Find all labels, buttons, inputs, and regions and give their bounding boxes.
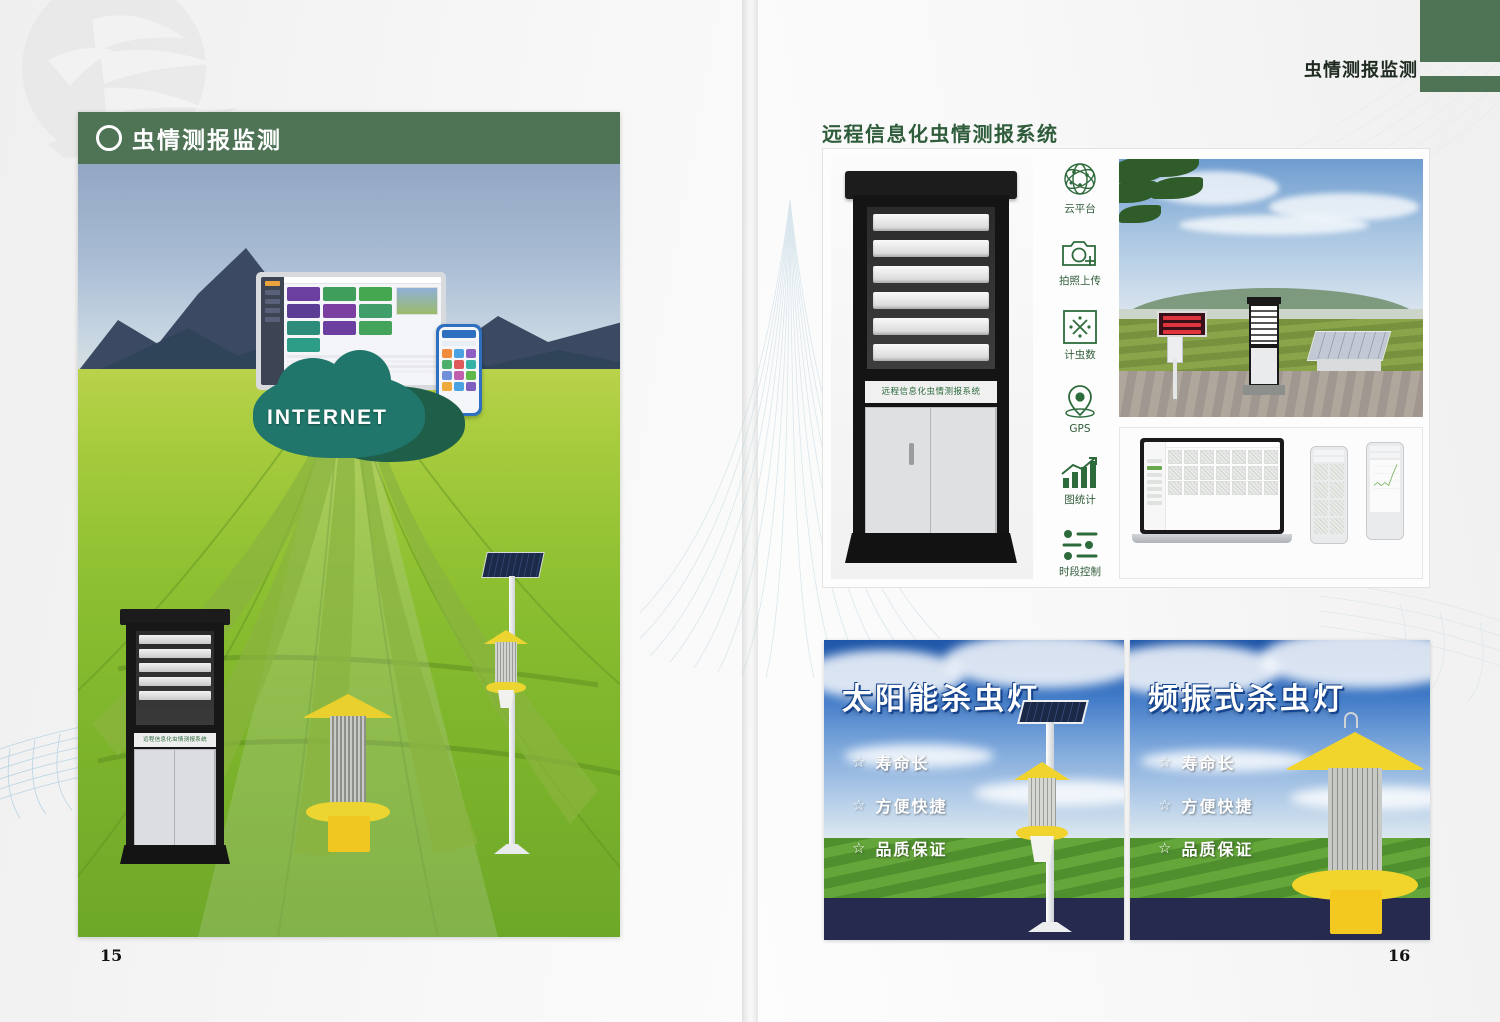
bullet-label: 寿命长 [875, 750, 929, 774]
cabinet-body: 远程信息化虫情测报系统 [853, 195, 1009, 535]
header-accent-bar [1420, 76, 1500, 92]
phone-gallery-view [1310, 446, 1348, 544]
cloud-bump [329, 350, 391, 412]
gallery-content [1166, 442, 1280, 530]
banner-solar-lamp: 太阳能杀虫灯 ☆ 寿命长 ☆ 方便快捷 ☆ 品质保证 [824, 640, 1124, 940]
page-gutter [742, 0, 758, 1022]
internet-cloud: INTERNET [253, 372, 468, 467]
phone-app-title [1314, 457, 1344, 462]
dashboard-toolbar [284, 277, 441, 284]
insect-monitoring-cabinet: 远程信息化虫情测报系统 [120, 609, 230, 864]
laptop [1132, 438, 1292, 556]
cabinet-louvers [136, 631, 214, 725]
cabinet-doors [134, 749, 216, 847]
feature-list: 云平台 拍照上传 计虫数 [1045, 159, 1115, 579]
sidebar-item [265, 299, 280, 304]
lamp-collector-cup [498, 690, 514, 708]
lamp-pole [509, 576, 515, 848]
banner-frequency-lamp: 频振式杀虫灯 ☆ 寿命长 ☆ 方便快捷 ☆ 品质保证 [1130, 640, 1430, 940]
feature-time-control: 时段控制 [1059, 528, 1101, 579]
bar-chart-icon [1060, 456, 1100, 490]
banner-bullet-list: ☆ 寿命长 ☆ 方便快捷 ☆ 品质保证 [852, 750, 947, 860]
banner-bullet: ☆ 方便快捷 [852, 793, 947, 817]
solar-panel-array [1311, 331, 1387, 379]
star-icon: ☆ [852, 839, 867, 857]
software-dashboard-photo [1119, 427, 1423, 579]
phone-chart-view [1366, 442, 1404, 540]
product-overview-card: 远程信息化虫情测报系统 [822, 148, 1430, 588]
star-icon: ☆ [852, 753, 867, 771]
dashboard-tiles [287, 287, 392, 352]
feature-label: 计虫数 [1064, 347, 1096, 362]
cabinet-doors [865, 407, 997, 553]
lamp-foot [1028, 922, 1072, 932]
cloud-platform-icon [1060, 159, 1100, 199]
solar-insect-killing-lamp [1002, 700, 1092, 930]
cabinet-louvers [867, 207, 995, 369]
sidebar-item [265, 281, 280, 286]
cabinet-label: 远程信息化虫情测报系统 [865, 381, 997, 403]
camera-upload-icon [1060, 237, 1100, 271]
insect-photo-gallery [1144, 442, 1280, 530]
time-control-icon [1060, 528, 1100, 562]
solar-panel [481, 552, 545, 578]
cabinet-plinth [1243, 385, 1285, 395]
cloud-label: INTERNET [267, 406, 388, 430]
banner-title: 频振式杀虫灯 [1148, 674, 1346, 718]
feature-gps: GPS [1062, 383, 1098, 435]
gallery-toolbar [1166, 442, 1280, 448]
banner-bullet: ☆ 品质保证 [852, 836, 947, 860]
banner-bullet-list: ☆ 寿命长 ☆ 方便快捷 ☆ 品质保证 [1158, 750, 1253, 860]
cabinet-label: 远程信息化虫情测报系统 [134, 733, 216, 747]
frequency-vibration-insect-lamp [302, 676, 394, 861]
star-icon: ☆ [852, 796, 867, 814]
phone-statusbar [1314, 450, 1344, 455]
banner-bullet: ☆ 寿命长 [852, 750, 947, 774]
lamp-tubes [495, 642, 517, 686]
lamp-tubes [1328, 768, 1382, 878]
star-icon: ☆ [1158, 753, 1173, 771]
photo-tree [1119, 159, 1227, 263]
feature-label: 云平台 [1064, 201, 1096, 216]
panel-title-bar: 虫情测报监测 [78, 112, 620, 164]
monitoring-cabinet-installed [1247, 297, 1281, 391]
feature-insect-count: 计虫数 [1062, 309, 1098, 362]
panel-title: 虫情测报监测 [132, 121, 282, 155]
dashboard-sidebar [261, 277, 284, 385]
bullet-label: 品质保证 [1181, 836, 1253, 860]
cabinet-handle [909, 443, 914, 465]
feature-label: 拍照上传 [1059, 273, 1101, 288]
lamp-tubes [1028, 778, 1056, 832]
bullet-label: 方便快捷 [1181, 793, 1253, 817]
cabinet-base [120, 845, 230, 864]
page-spread: 虫情测报监测 虫情测报监测 [0, 0, 1500, 1022]
banner-bullet: ☆ 方便快捷 [1158, 793, 1253, 817]
mast [1173, 359, 1177, 399]
product-photo: 远程信息化虫情测报系统 [831, 157, 1033, 579]
cabinet-doors [1249, 346, 1279, 386]
laptop-screen [1140, 438, 1284, 534]
solar-panel-stand [1317, 359, 1381, 371]
phone-app-title [1370, 453, 1400, 458]
insect-count-icon [1062, 309, 1098, 345]
solar-panel [1307, 331, 1392, 361]
trend-line-icon [1370, 460, 1400, 499]
banner-bullet: ☆ 品质保证 [1158, 836, 1253, 860]
star-icon: ☆ [1158, 839, 1173, 857]
lamp-canopy [1284, 732, 1426, 770]
phone-trend-chart [1370, 460, 1400, 512]
section-title: 远程信息化虫情测报系统 [822, 118, 1059, 147]
bullet-label: 寿命长 [1181, 750, 1235, 774]
feature-cloud-platform: 云平台 [1060, 159, 1100, 216]
phone-photo-grid [1314, 464, 1344, 534]
sidebar-item [265, 317, 280, 322]
feature-label: 时段控制 [1059, 564, 1101, 579]
bullet-label: 品质保证 [875, 836, 947, 860]
dashboard-preview-image [396, 287, 438, 315]
phone-statusbar [1370, 446, 1400, 451]
phone-app-header [442, 330, 476, 338]
lamp-tubes [330, 716, 366, 806]
gps-pin-icon [1062, 383, 1098, 421]
hero-scene-illustration:  [78, 164, 620, 937]
page-number-left: 15 [100, 946, 122, 965]
sidebar-item [265, 290, 280, 295]
field-installation-photo [1119, 159, 1423, 417]
feature-photo-upload: 拍照上传 [1059, 237, 1101, 288]
cabinet-roof [1247, 297, 1281, 304]
sidebar-item [265, 308, 280, 313]
lamp-collector-box [328, 816, 370, 852]
feature-chart-statistics: 图统计 [1060, 456, 1100, 507]
feature-label: 图统计 [1064, 492, 1096, 507]
solar-insect-lamp [478, 552, 548, 862]
cabinet-louvers [1249, 304, 1279, 346]
solar-panel [1017, 700, 1089, 724]
page-number-right: 16 [1388, 946, 1410, 965]
lamp-collector-box [1330, 890, 1382, 934]
monitoring-cabinet-product: 远程信息化虫情测报系统 [845, 171, 1017, 571]
lamp-canopy [302, 694, 394, 718]
header-accent-block [1420, 0, 1500, 62]
star-icon: ☆ [1158, 796, 1173, 814]
left-feature-panel: 虫情测报监测 [78, 112, 620, 937]
circle-outline-icon [96, 125, 122, 151]
feature-label: GPS [1069, 423, 1090, 435]
bullet-label: 方便快捷 [875, 793, 947, 817]
cabinet-body: 远程信息化虫情测报系统 [126, 623, 224, 845]
led-display-board [1157, 311, 1207, 337]
gallery-sidebar [1144, 442, 1166, 530]
cabinet-base [845, 533, 1017, 563]
laptop-base [1132, 534, 1292, 543]
gallery-grid [1168, 450, 1278, 495]
frequency-vibration-insect-killing-lamp [1280, 718, 1430, 938]
lamp-hook [1344, 712, 1358, 728]
banner-bullet: ☆ 寿命长 [1158, 750, 1253, 774]
header-title: 虫情测报监测 [1304, 56, 1418, 82]
lamp-foot [494, 844, 530, 854]
